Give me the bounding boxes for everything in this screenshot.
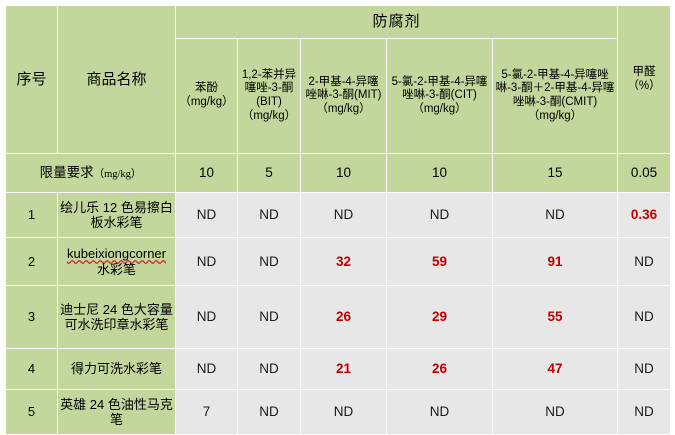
limit-value-cit: 10	[387, 154, 493, 193]
cell-cit: ND	[387, 390, 493, 435]
row-index: 4	[6, 349, 58, 390]
document-page: 序号 商品名称 防腐剂 甲醛（%） 苯酚（mg/kg） 1,2-苯并异噻唑-3-…	[0, 0, 675, 435]
group-header-preservatives: 防腐剂	[176, 6, 618, 39]
cell-formaldehyde: ND	[618, 390, 671, 435]
cell-bit: ND	[238, 193, 301, 238]
cell-cit: 29	[387, 286, 493, 349]
cell-phenol: 7	[176, 390, 238, 435]
cell-phenol: ND	[176, 286, 238, 349]
cell-cit: ND	[387, 193, 493, 238]
row-index: 3	[6, 286, 58, 349]
table-body: 限量要求（mg/kg） 10 5 10 10 15 0.05 1 绘儿乐 12 …	[6, 154, 671, 435]
cell-cmit: 55	[493, 286, 618, 349]
row-product-name: kubeixiongcorner 水彩笔	[58, 238, 176, 286]
cell-cmit: ND	[493, 193, 618, 238]
limit-requirement-text: 限量要求	[40, 165, 94, 180]
preservative-test-results-table: 序号 商品名称 防腐剂 甲醛（%） 苯酚（mg/kg） 1,2-苯并异噻唑-3-…	[5, 5, 671, 435]
cell-cmit: ND	[493, 390, 618, 435]
cell-cmit: 47	[493, 349, 618, 390]
product-name-rest: 水彩笔	[97, 262, 136, 277]
column-header-product: 商品名称	[58, 6, 176, 154]
cell-cmit: 91	[493, 238, 618, 286]
row-product-name: 迪士尼 24 色大容量可水洗印章水彩笔	[58, 286, 176, 349]
limit-value-bit: 5	[238, 154, 301, 193]
column-header-mit: 2-甲基-4-异噻唑啉-3-酮(MIT)（mg/kg）	[301, 39, 387, 154]
table-row: 2 kubeixiongcorner 水彩笔 ND ND 32 59 91 ND	[6, 238, 671, 286]
cell-bit: ND	[238, 286, 301, 349]
cell-mit: ND	[301, 193, 387, 238]
cell-mit: 32	[301, 238, 387, 286]
row-product-name: 绘儿乐 12 色易擦白板水彩笔	[58, 193, 176, 238]
cell-cit: 26	[387, 349, 493, 390]
row-index: 1	[6, 193, 58, 238]
cell-phenol: ND	[176, 193, 238, 238]
row-product-name: 英雄 24 色油性马克笔	[58, 390, 176, 435]
column-header-cmit: 5-氯-2-甲基-4-异噻唑啉-3-酮＋2-甲基-4-异噻唑啉-3-酮(CMIT…	[493, 39, 618, 154]
column-header-cit: 5-氯-2-甲基-4-异噻唑啉-3-酮(CIT)（mg/kg）	[387, 39, 493, 154]
row-product-name: 得力可洗水彩笔	[58, 349, 176, 390]
cell-cit: 59	[387, 238, 493, 286]
column-header-formaldehyde: 甲醛（%）	[618, 6, 671, 154]
limit-value-formaldehyde: 0.05	[618, 154, 671, 193]
column-header-phenol: 苯酚（mg/kg）	[176, 39, 238, 154]
cell-formaldehyde: ND	[618, 238, 671, 286]
cell-bit: ND	[238, 349, 301, 390]
limit-value-phenol: 10	[176, 154, 238, 193]
table-row: 1 绘儿乐 12 色易擦白板水彩笔 ND ND ND ND ND 0.36	[6, 193, 671, 238]
table-row: 4 得力可洗水彩笔 ND ND 21 26 47 ND	[6, 349, 671, 390]
cell-phenol: ND	[176, 349, 238, 390]
cell-phenol: ND	[176, 238, 238, 286]
limit-requirement-label: 限量要求（mg/kg）	[6, 154, 176, 193]
cell-formaldehyde: ND	[618, 349, 671, 390]
cell-bit: ND	[238, 238, 301, 286]
limit-requirement-row: 限量要求（mg/kg） 10 5 10 10 15 0.05	[6, 154, 671, 193]
row-index: 5	[6, 390, 58, 435]
column-header-bit: 1,2-苯并异噻唑-3-酮(BIT)（mg/kg）	[238, 39, 301, 154]
limit-value-mit: 10	[301, 154, 387, 193]
cell-mit: ND	[301, 390, 387, 435]
cell-mit: 21	[301, 349, 387, 390]
cell-bit: ND	[238, 390, 301, 435]
product-name-spellchecked-part: kubeixiongcorner	[67, 246, 166, 261]
column-header-index: 序号	[6, 6, 58, 154]
cell-formaldehyde: 0.36	[618, 193, 671, 238]
table-row: 3 迪士尼 24 色大容量可水洗印章水彩笔 ND ND 26 29 55 ND	[6, 286, 671, 349]
table-head: 序号 商品名称 防腐剂 甲醛（%） 苯酚（mg/kg） 1,2-苯并异噻唑-3-…	[6, 6, 671, 154]
limit-requirement-unit: （mg/kg）	[94, 169, 142, 180]
limit-value-cmit: 15	[493, 154, 618, 193]
group-header-row: 序号 商品名称 防腐剂 甲醛（%）	[6, 6, 671, 39]
row-index: 2	[6, 238, 58, 286]
table-row: 5 英雄 24 色油性马克笔 7 ND ND ND ND ND	[6, 390, 671, 435]
cell-formaldehyde: ND	[618, 286, 671, 349]
cell-mit: 26	[301, 286, 387, 349]
